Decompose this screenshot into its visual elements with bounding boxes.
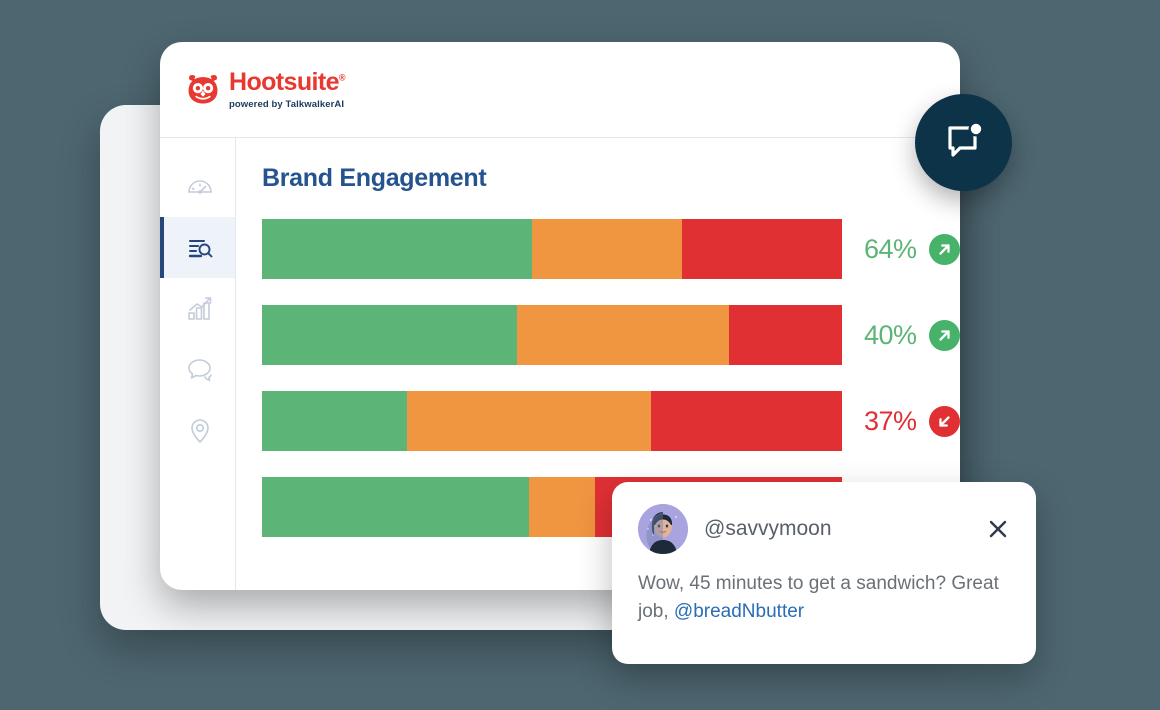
- bar-segment-positive: [262, 219, 532, 279]
- mention-handle: @savvymoon: [704, 517, 970, 541]
- brand-name-text: Hootsuite: [229, 68, 339, 96]
- bar-segment-neutral: [407, 391, 651, 451]
- arrow-down-left-icon: [929, 406, 960, 437]
- bar-annotation: 40%: [864, 320, 960, 351]
- map-pin-icon: [185, 416, 215, 446]
- bar-percent-value: 37%: [864, 406, 917, 437]
- search-list-icon: [185, 233, 215, 263]
- brand-logo[interactable]: Hootsuite® powered by TalkwalkerAI: [186, 70, 345, 110]
- gauge-icon: [185, 172, 215, 202]
- avatar: [638, 504, 688, 554]
- bar-segment-neutral: [532, 219, 683, 279]
- sidebar-item-locations[interactable]: [160, 400, 235, 461]
- sidebar-item-analytics[interactable]: [160, 278, 235, 339]
- bar-segment-positive: [262, 477, 529, 537]
- sidebar-item-dashboard[interactable]: [160, 156, 235, 217]
- close-icon[interactable]: [986, 517, 1010, 541]
- bar-segment-negative: [682, 219, 842, 279]
- stacked-bar[interactable]: [262, 219, 842, 279]
- bar-segment-neutral: [529, 477, 596, 537]
- chat-bubbles-icon: [185, 355, 215, 385]
- chart-row: 37%: [262, 391, 960, 451]
- bar-segment-negative: [729, 305, 842, 365]
- chat-notification-icon: [939, 115, 989, 170]
- mention-link[interactable]: @breadNbutter: [674, 601, 804, 622]
- chat-notification-badge[interactable]: [915, 94, 1012, 191]
- stacked-bar[interactable]: [262, 391, 842, 451]
- bar-segment-neutral: [517, 305, 729, 365]
- page-title: Brand Engagement: [262, 164, 960, 193]
- stacked-bar[interactable]: [262, 305, 842, 365]
- bar-annotation: 64%: [864, 234, 960, 265]
- arrow-up-right-icon: [929, 234, 960, 265]
- bar-segment-positive: [262, 305, 517, 365]
- bar-percent-value: 40%: [864, 320, 917, 351]
- mention-header: @savvymoon: [638, 504, 1010, 554]
- bar-segment-negative: [651, 391, 842, 451]
- brand-name: Hootsuite®: [229, 70, 345, 95]
- mention-body: Wow, 45 minutes to get a sandwich? Great…: [638, 570, 1010, 625]
- bar-annotation: 37%: [864, 406, 960, 437]
- sidebar-item-conversations[interactable]: [160, 339, 235, 400]
- bar-chart-trend-icon: [185, 294, 215, 324]
- brand-tagline: powered by TalkwalkerAI: [229, 100, 345, 110]
- sidebar-item-search[interactable]: [160, 217, 235, 278]
- chart-row: 64%: [262, 219, 960, 279]
- bar-segment-positive: [262, 391, 407, 451]
- arrow-up-right-icon: [929, 320, 960, 351]
- bar-percent-value: 64%: [864, 234, 917, 265]
- sidebar: [160, 138, 236, 590]
- chart-row: 40%: [262, 305, 960, 365]
- app-header: Hootsuite® powered by TalkwalkerAI: [160, 42, 960, 138]
- mention-popup: @savvymoon Wow, 45 minutes to get a sand…: [612, 482, 1036, 664]
- registered-mark: ®: [339, 72, 345, 82]
- owl-icon: [186, 72, 220, 106]
